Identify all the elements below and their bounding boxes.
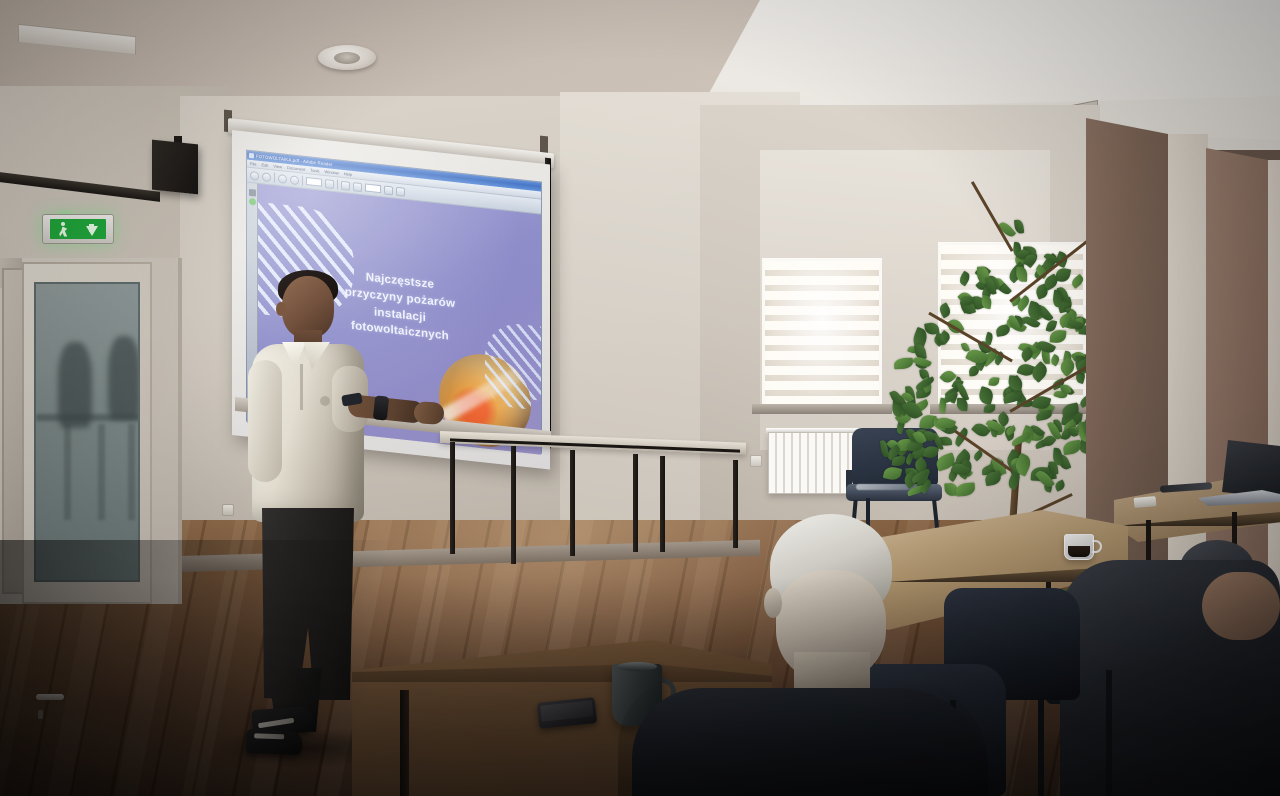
page-number-input[interactable] <box>306 177 322 187</box>
floor-shadow <box>0 540 420 796</box>
menu-item-view[interactable]: View <box>273 163 282 169</box>
presenter-ear <box>276 302 286 316</box>
railing-behind-glass <box>36 414 140 421</box>
window-right <box>938 242 1086 410</box>
small-white-item <box>1134 496 1157 508</box>
stripe-overlay <box>485 354 531 409</box>
shirt-logo <box>320 396 330 406</box>
table-leg <box>450 442 455 554</box>
zoom-level-input[interactable] <box>365 183 381 193</box>
pillar-face <box>1268 160 1280 630</box>
window-sill <box>930 404 1094 414</box>
email-icon[interactable] <box>278 173 287 183</box>
attendee-shadow <box>618 676 988 796</box>
railing-post <box>64 424 71 520</box>
presenter-arm-left <box>248 360 282 482</box>
pages-panel-icon[interactable] <box>249 189 256 197</box>
print-icon[interactable] <box>262 172 271 182</box>
previous-page-icon[interactable] <box>325 179 334 189</box>
power-socket-icon[interactable] <box>750 455 762 467</box>
menu-item-window[interactable]: Window <box>325 169 339 176</box>
railing-post <box>128 424 135 520</box>
blue-chair-backrest[interactable] <box>852 428 938 486</box>
chair-leg <box>1038 690 1044 796</box>
table-leg <box>511 446 516 564</box>
zoom-out-icon[interactable] <box>341 180 350 190</box>
bookmarks-panel-icon[interactable] <box>249 198 256 206</box>
wristwatch <box>373 395 389 420</box>
presenter-hand <box>413 401 444 425</box>
smoke-detector-icon <box>318 45 376 70</box>
save-icon[interactable] <box>290 175 299 185</box>
power-socket-icon[interactable] <box>222 504 234 516</box>
attendee-foreground <box>618 512 988 796</box>
table-leg <box>570 450 575 556</box>
toolbar-separator <box>274 173 275 183</box>
menu-item-help[interactable]: Help <box>344 171 352 177</box>
presenter-head <box>282 276 334 338</box>
search-icon[interactable] <box>396 186 405 196</box>
toolbar-separator <box>302 176 303 186</box>
window-left <box>762 258 882 410</box>
window-daylight <box>941 245 1083 407</box>
fit-page-icon[interactable] <box>384 185 393 195</box>
chair-highlight <box>856 484 920 490</box>
zoom-in-icon[interactable] <box>353 182 362 192</box>
railing-post <box>98 424 105 520</box>
exit-pictogram <box>50 219 106 239</box>
menu-item-document[interactable]: Document <box>287 165 305 172</box>
shirt-placket <box>300 364 303 410</box>
emergency-exit-sign <box>42 214 114 244</box>
running-man-icon <box>58 222 69 237</box>
menu-item-edit[interactable]: Edit <box>261 162 268 168</box>
chair-leg <box>1106 670 1112 796</box>
window-daylight <box>765 261 879 407</box>
laptop-screen[interactable] <box>1222 440 1280 498</box>
open-file-icon[interactable] <box>250 170 259 180</box>
attendee-ear <box>764 588 782 618</box>
attendee-right-arm <box>1202 572 1280 640</box>
menu-item-tools[interactable]: Tools <box>310 167 319 173</box>
toolbar-separator <box>337 179 338 189</box>
app-icon <box>249 153 254 159</box>
wall-speaker-icon <box>152 140 198 195</box>
glass-cup-with-coffee[interactable] <box>1064 534 1094 560</box>
silhouette-behind-glass <box>108 336 140 420</box>
door-glass-panel <box>34 282 140 582</box>
arrow-down-icon <box>86 226 98 236</box>
menu-item-file[interactable]: File <box>250 161 256 167</box>
meeting-room-photo: FOTOWOLTAIKA.pdf - Adobe Reader File Edi… <box>0 0 1280 796</box>
window-sill <box>752 404 892 414</box>
